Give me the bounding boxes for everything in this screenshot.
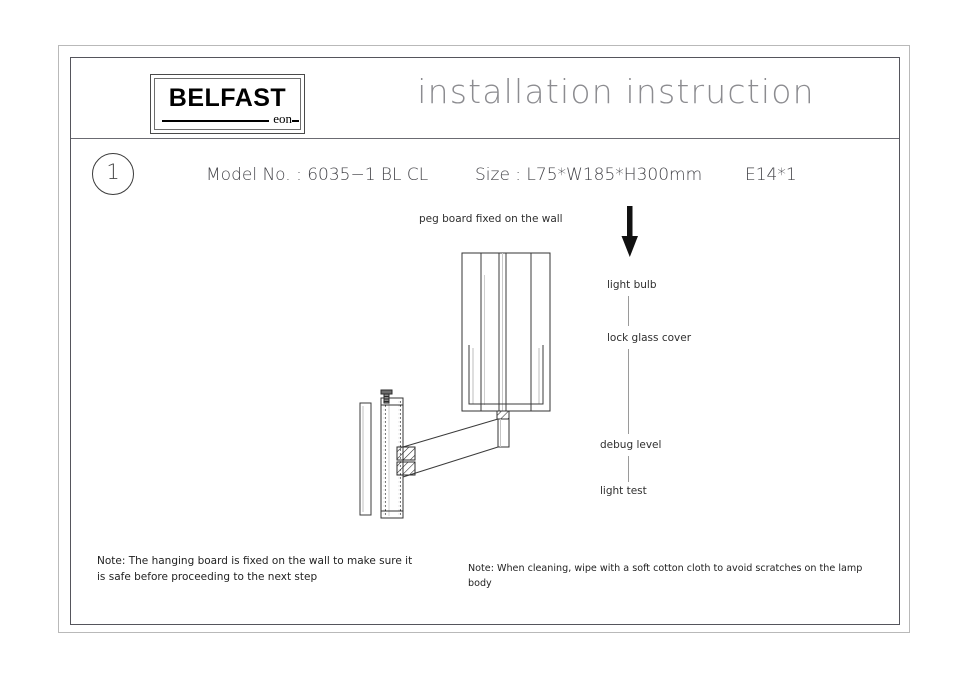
callout-leader-segment-2 bbox=[628, 349, 629, 434]
step-number-value: 1 bbox=[93, 160, 133, 184]
header-divider bbox=[71, 138, 899, 139]
size-label: Size : L75*W185*H300mm bbox=[475, 165, 702, 185]
brand-underline bbox=[162, 120, 269, 122]
brand-sub-dash bbox=[292, 120, 299, 122]
callout-light-bulb: light bulb bbox=[607, 279, 657, 291]
sheet-header: BELFAST eon installation instruction bbox=[71, 58, 899, 138]
callout-leader-segment-3 bbox=[628, 456, 629, 482]
note-cleaning: Note: When cleaning, wipe with a soft co… bbox=[468, 562, 888, 592]
step-number-badge: 1 bbox=[92, 153, 134, 195]
callout-light-test: light test bbox=[600, 485, 647, 497]
model-number-label: Model No. : 6035−1 BL CL bbox=[206, 165, 428, 185]
callout-peg-board: peg board fixed on the wall bbox=[419, 213, 563, 225]
note-hanging-board: Note: The hanging board is fixed on the … bbox=[97, 553, 417, 586]
page-frame-inner bbox=[70, 57, 900, 625]
callout-leader-segment-1 bbox=[628, 296, 629, 326]
page-title: installation instruction bbox=[356, 72, 876, 111]
brand-name: BELFAST bbox=[151, 84, 304, 113]
instruction-sheet-page: BELFAST eon installation instruction 1 M… bbox=[0, 0, 970, 685]
brand-logo: BELFAST eon bbox=[150, 74, 305, 134]
brand-sub-name: eon bbox=[273, 111, 292, 127]
down-arrow-icon bbox=[619, 206, 641, 258]
callout-lock-glass-cover: lock glass cover bbox=[607, 332, 691, 344]
lamp-type-label: E14*1 bbox=[745, 165, 797, 185]
callout-debug-level: debug level bbox=[600, 439, 661, 451]
